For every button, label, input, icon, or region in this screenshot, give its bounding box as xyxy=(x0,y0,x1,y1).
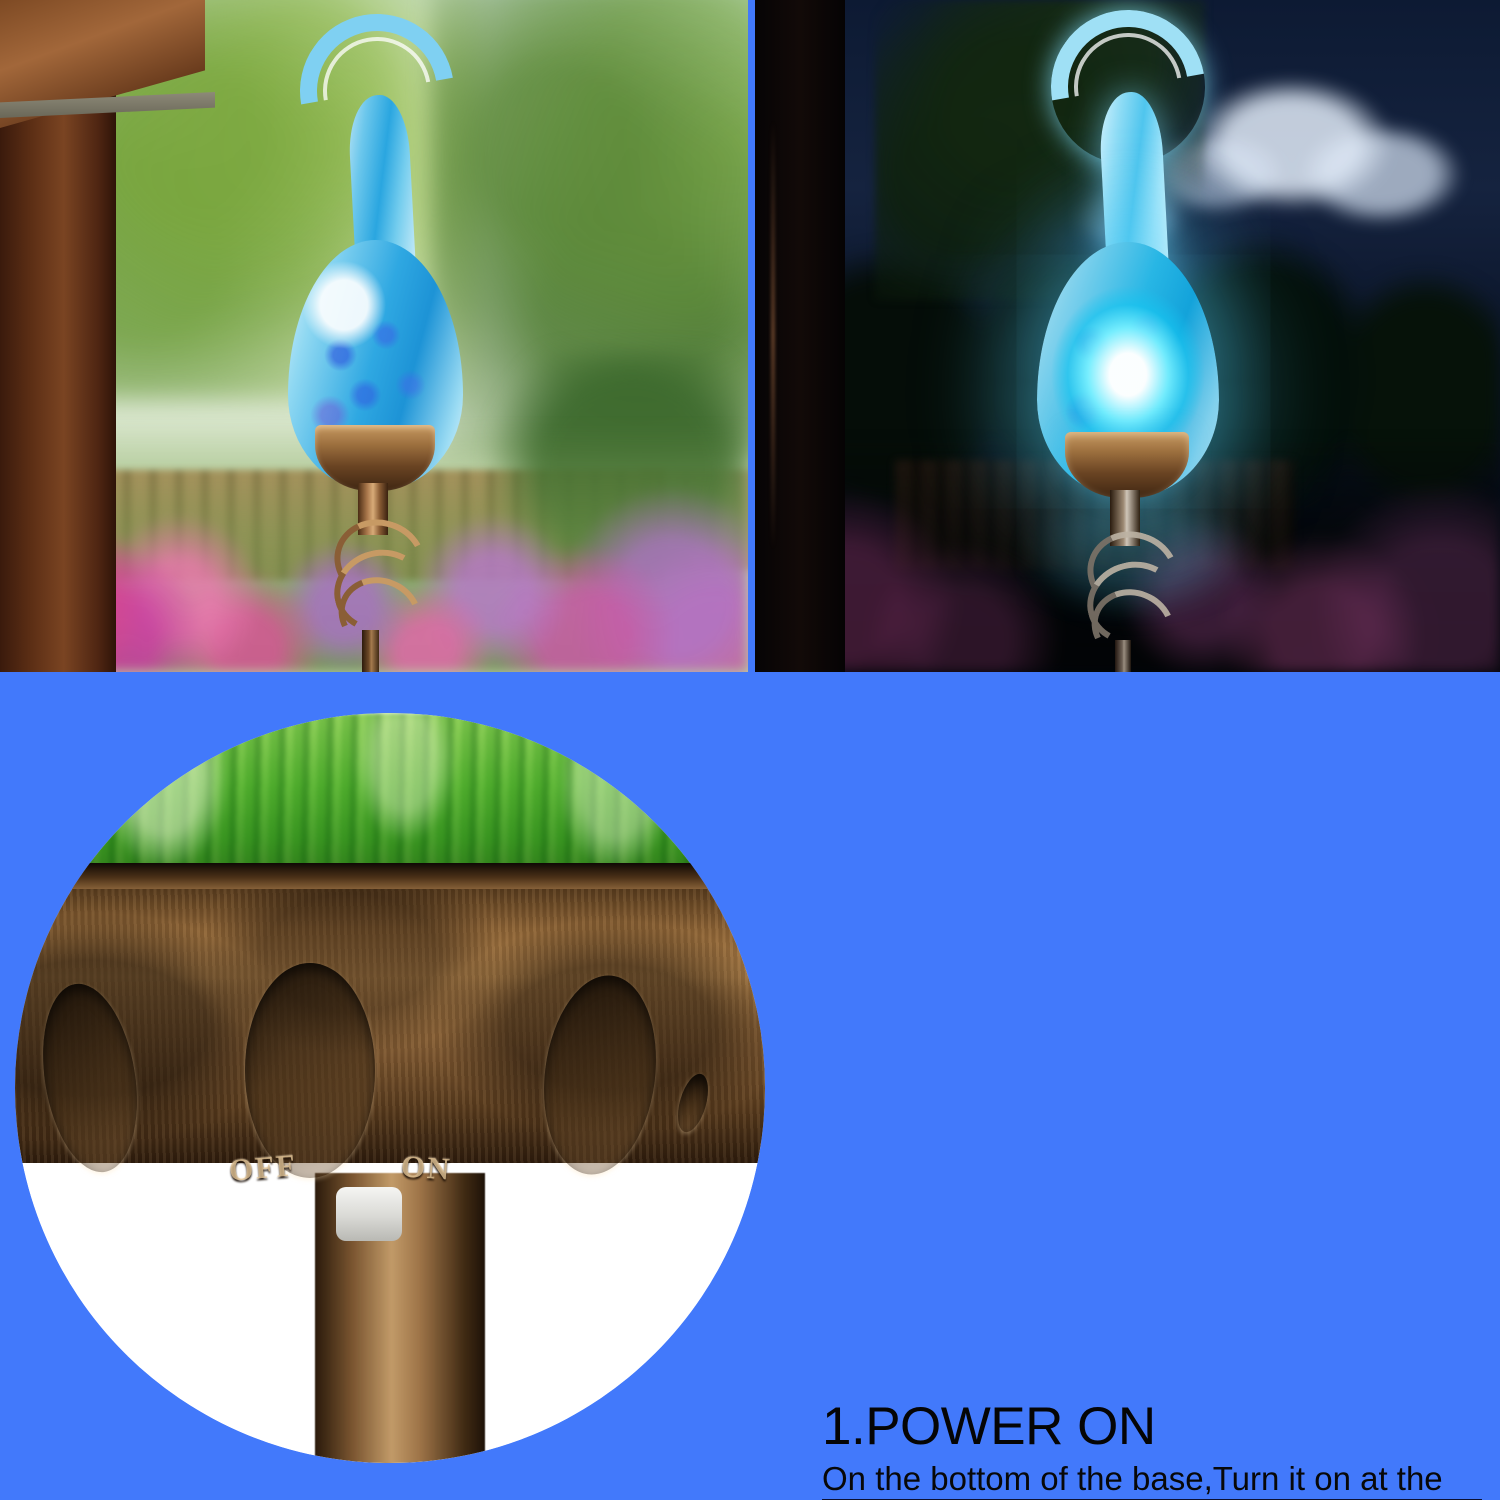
daytime-garden-photo xyxy=(0,0,748,672)
detail-grass-background xyxy=(15,713,765,873)
switch-detail-circle xyxy=(15,713,765,1463)
detail-base-rim xyxy=(15,863,765,889)
steps-list: 1.POWER ON On the bottom of the base,Tur… xyxy=(822,1400,1482,1500)
ground-spike xyxy=(362,630,379,672)
step-1-body: On the bottom of the base,Turn it on at … xyxy=(822,1462,1482,1500)
night-wooden-post xyxy=(755,0,845,672)
step-1-line-1: On the bottom of the base,Turn it on at … xyxy=(822,1462,1482,1500)
detail-pole-shaft xyxy=(315,1173,485,1463)
nighttime-glowing-photo xyxy=(755,0,1500,672)
instructions-panel: OFF ON ON THE GLASS BASE OF THE PRODUCT … xyxy=(0,672,1500,1500)
product-photo-row xyxy=(0,0,1500,672)
night-post-highlight xyxy=(771,120,775,550)
step-1-heading: 1.POWER ON xyxy=(822,1400,1482,1454)
infographic-page: OFF ON ON THE GLASS BASE OF THE PRODUCT … xyxy=(0,0,1500,1500)
detail-base-cutout-center xyxy=(245,963,375,1178)
step-1: 1.POWER ON On the bottom of the base,Tur… xyxy=(822,1400,1482,1500)
ground-spike xyxy=(1115,640,1131,672)
